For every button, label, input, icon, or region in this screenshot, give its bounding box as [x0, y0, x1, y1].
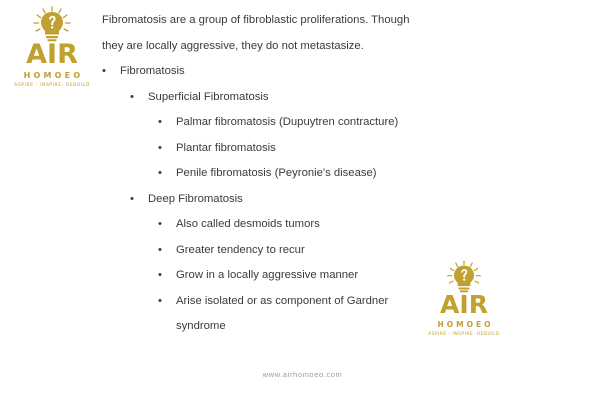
- list-item: •Arise isolated or as component of Gardn…: [102, 289, 597, 315]
- list-item-label: Palmar fibromatosis (Dupuytren contractu…: [176, 110, 398, 136]
- list-item-continuation: syndrome: [102, 314, 597, 340]
- list-item-label: Deep Fibromatosis: [148, 187, 243, 213]
- bullet-point-icon: •: [158, 238, 176, 264]
- intro-paragraph-line-1: Fibromatosis are a group of fibroblastic…: [102, 8, 597, 34]
- list-item: •Superficial Fibromatosis: [102, 85, 597, 111]
- list-item: •Also called desmoids tumors: [102, 212, 597, 238]
- bullet-point-icon: •: [130, 85, 148, 111]
- bullet-point-icon: •: [158, 161, 176, 187]
- list-item: •Grow in a locally aggressive manner: [102, 263, 597, 289]
- brand-logo: AIR HOMOEO ASPIRE - INSPIRE- REBUILD: [8, 6, 96, 86]
- list-item: •Penile fibromatosis (Peyronie's disease…: [102, 161, 597, 187]
- list-item: •Palmar fibromatosis (Dupuytren contract…: [102, 110, 597, 136]
- bullet-point-icon: •: [130, 187, 148, 213]
- list-item: •Fibromatosis: [102, 59, 597, 85]
- list-item-label: Arise isolated or as component of Gardne…: [176, 289, 388, 315]
- list-item-label: Fibromatosis: [120, 59, 185, 85]
- bullet-point-icon: •: [102, 59, 120, 85]
- bullet-point-icon: •: [158, 212, 176, 238]
- list-item-label: Plantar fibromatosis: [176, 136, 276, 162]
- list-item: •Plantar fibromatosis: [102, 136, 597, 162]
- slide-content: Fibromatosis are a group of fibroblastic…: [102, 8, 597, 340]
- list-item: •Deep Fibromatosis: [102, 187, 597, 213]
- logo-tagline-text: ASPIRE - INSPIRE- REBUILD: [14, 84, 90, 89]
- list-item-label: Grow in a locally aggressive manner: [176, 263, 358, 289]
- logo-brand-text: AIR: [26, 41, 78, 68]
- logo-subbrand-text: HOMOEO: [24, 72, 84, 80]
- bullet-point-icon: •: [158, 136, 176, 162]
- bullet-point-icon: •: [158, 289, 176, 315]
- list-item-label: Superficial Fibromatosis: [148, 85, 269, 111]
- list-item-label: syndrome: [176, 314, 226, 340]
- bullet-list: •Fibromatosis•Superficial Fibromatosis•P…: [102, 59, 597, 340]
- footer-website: www.airhomoeo.com: [0, 370, 605, 379]
- list-item-label: Also called desmoids tumors: [176, 212, 320, 238]
- list-item-label: Greater tendency to recur: [176, 238, 305, 264]
- list-item-label: Penile fibromatosis (Peyronie's disease): [176, 161, 377, 187]
- intro-paragraph-line-2: they are locally aggressive, they do not…: [102, 34, 597, 60]
- bullet-point-icon: •: [158, 110, 176, 136]
- bullet-point-icon: •: [158, 263, 176, 289]
- list-item: •Greater tendency to recur: [102, 238, 597, 264]
